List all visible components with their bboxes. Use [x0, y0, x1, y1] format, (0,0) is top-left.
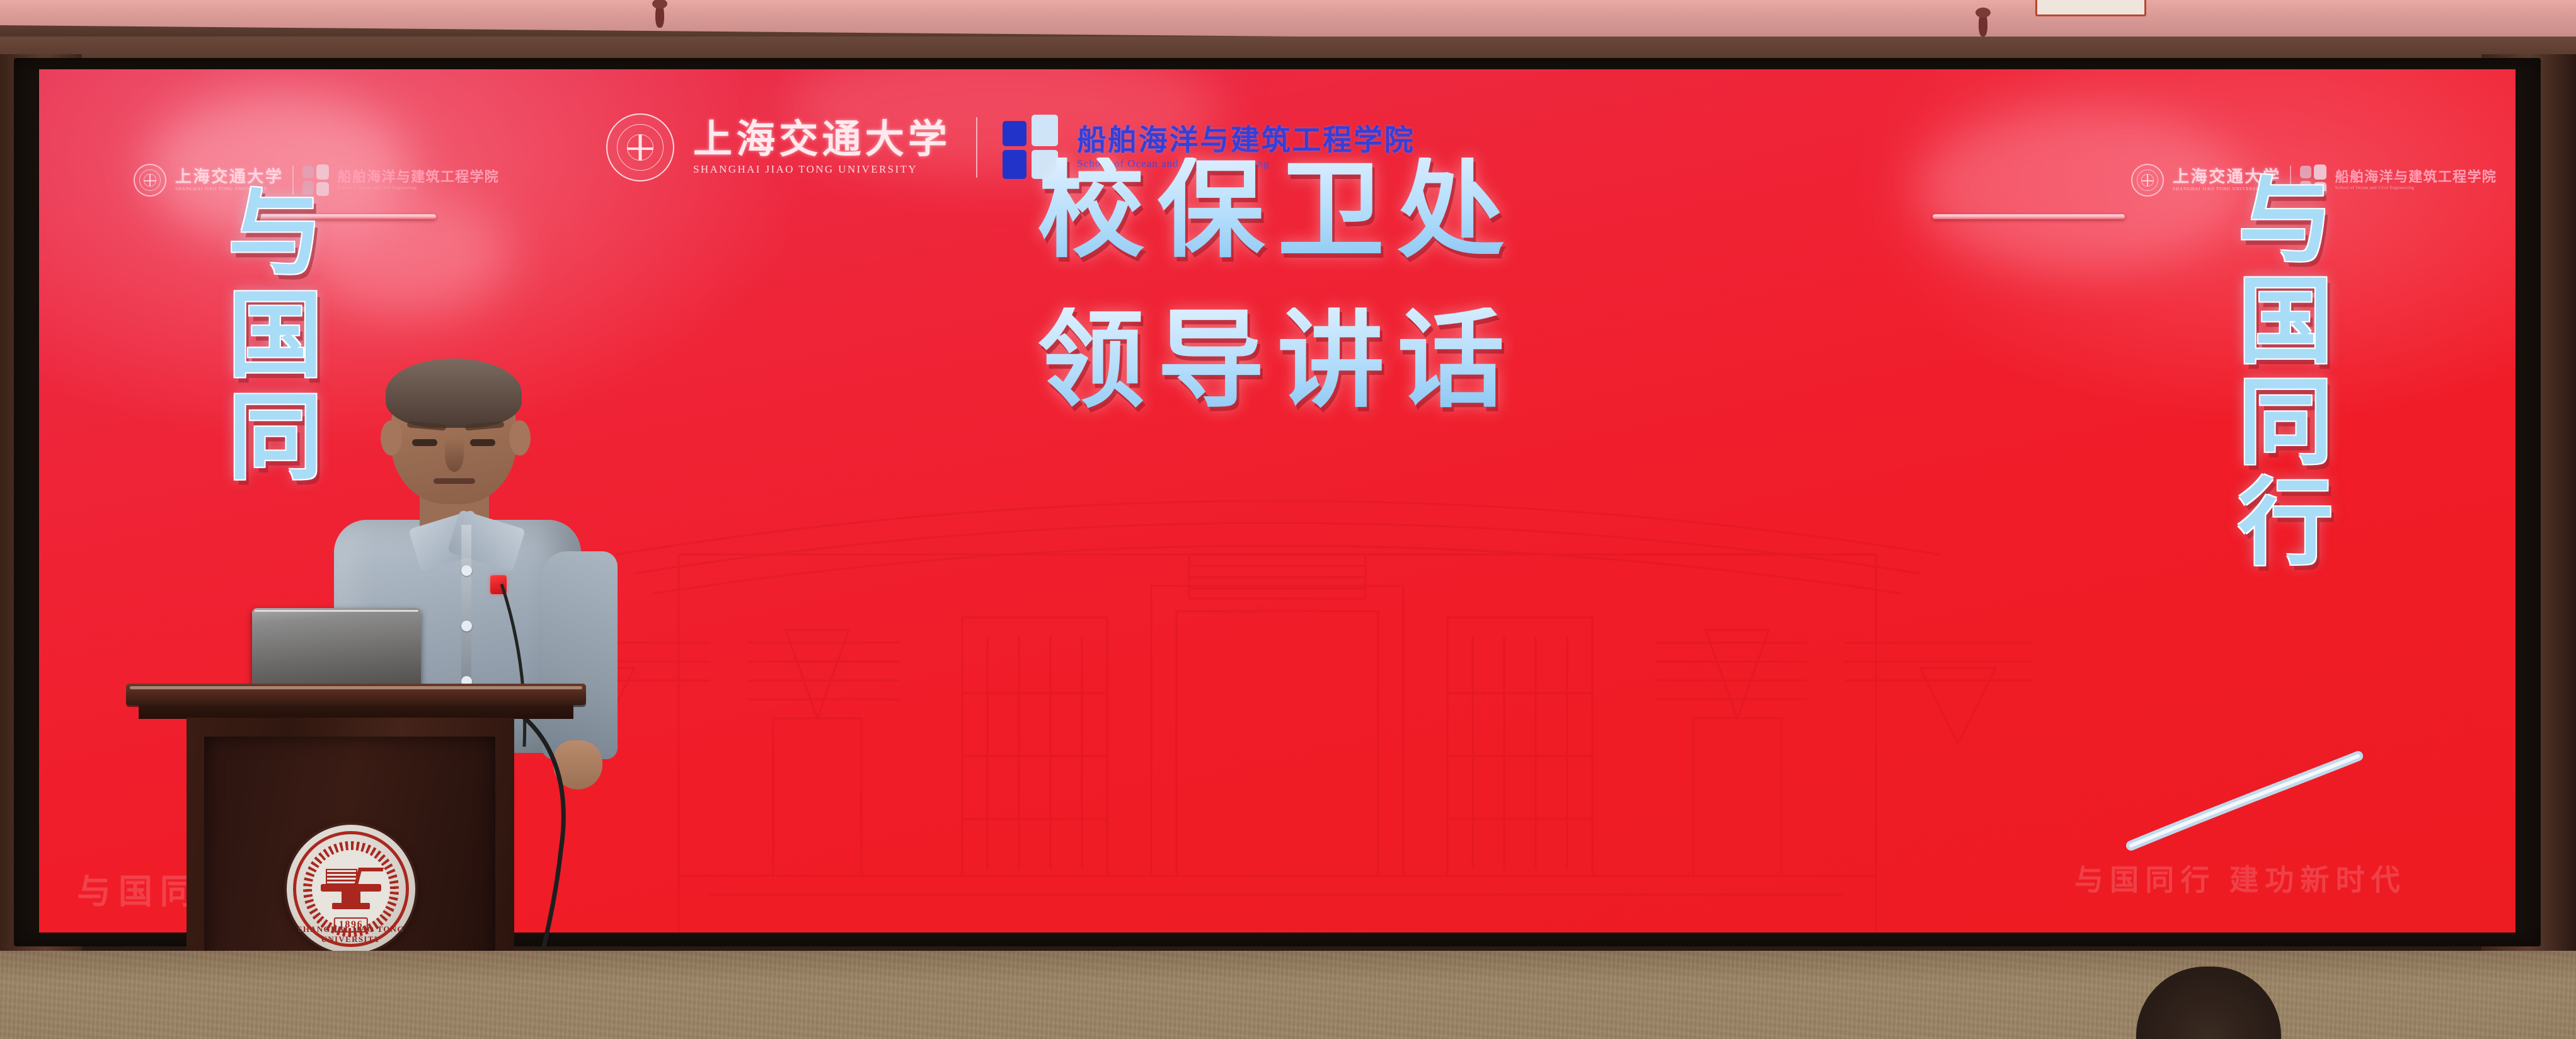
brush-stroke-flourish — [2106, 737, 2371, 863]
speaker-mouth — [434, 478, 475, 484]
sprinkler-icon — [1979, 11, 1987, 37]
seal-anvil-top — [321, 884, 381, 892]
university-name-cn: 上海交通大学 — [693, 120, 951, 160]
seal-anvil-base — [332, 903, 370, 909]
podium-lip — [139, 705, 573, 719]
sprinkler-icon — [655, 3, 664, 28]
ceiling-light-panel — [2035, 0, 2146, 16]
seal-text-en: SHANGHAI JIAO TONG UNIVERSITY — [287, 924, 415, 944]
calligraphy-char: 国 — [228, 291, 323, 382]
conference-hall-scene: 上海交通大学 SHANGHAI JIAO TONG UNIVERSITY 船舶海… — [0, 0, 2576, 1039]
watermark-bottom-right: 与国同行 建功新时代 — [2074, 857, 2406, 898]
speaker-hair — [386, 359, 522, 428]
calligraphy-char: 同 — [228, 393, 323, 484]
speaker-nose — [445, 438, 464, 472]
sjtu-gate-motif — [521, 365, 2033, 933]
speaker-ear-left — [381, 420, 402, 456]
sjtu-podium-seal-icon: 1896 SHANGHAI JIAO TONG UNIVERSITY — [287, 825, 415, 953]
school-name-cn: 船舶海洋与建筑工程学院 — [1077, 126, 1415, 155]
calligraphy-left: 与 国 同 — [228, 189, 323, 484]
speaker-eye-right — [470, 439, 495, 446]
seal-anvil-emblem — [321, 868, 381, 914]
podium-top-highlight — [130, 686, 582, 689]
calligraphy-char: 同 — [2238, 378, 2333, 469]
calligraphy-char: 行 — [2238, 479, 2333, 570]
speaker-eye-left — [412, 439, 437, 446]
calligraphy-char: 与 — [2238, 176, 2333, 267]
calligraphy-char: 国 — [2238, 277, 2333, 368]
calligraphy-right: 与 国 同 行 — [2238, 176, 2333, 570]
lapel-pin-icon — [490, 575, 507, 594]
podium-top — [126, 684, 586, 705]
laptop-device — [252, 608, 421, 690]
seal-anvil-stem — [342, 892, 360, 904]
shirt-button — [461, 565, 472, 576]
headline-line-1: 校保卫处 — [39, 158, 2516, 265]
calligraphy-char: 与 — [228, 189, 323, 280]
speaker-ear-right — [509, 420, 531, 456]
shirt-button — [461, 621, 472, 631]
